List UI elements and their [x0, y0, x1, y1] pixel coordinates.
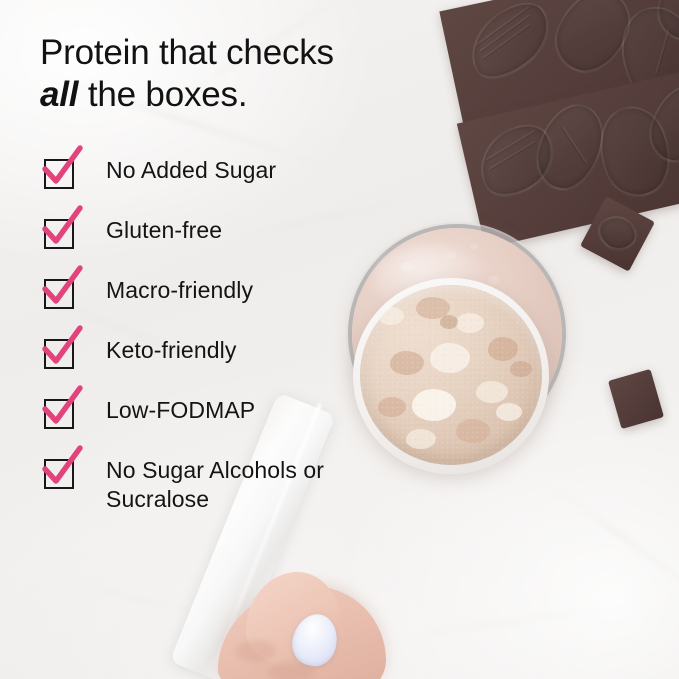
checkbox-macro-friendly[interactable]: [42, 271, 80, 309]
shake-froth: [470, 244, 478, 250]
checkmark-icon: [38, 385, 84, 431]
list-item-label: Keto-friendly: [106, 330, 236, 365]
chocolate-square-emboss: [592, 207, 643, 258]
powder-crumb: [456, 313, 484, 333]
headline-line-2-rest: the boxes.: [78, 75, 247, 114]
list-item: No Added Sugar: [42, 150, 372, 189]
checkmark-icon: [38, 145, 84, 191]
cacao-pod-emboss: [456, 0, 563, 90]
powder-crumb: [406, 429, 436, 449]
shake-froth: [400, 262, 414, 271]
powder-crumb: [510, 361, 532, 377]
checkmark-icon: [38, 265, 84, 311]
powder-crumb: [456, 419, 490, 443]
powder-crumb: [476, 381, 508, 403]
checkbox-keto-friendly[interactable]: [42, 331, 80, 369]
powder-crumb: [378, 307, 404, 325]
list-item: Keto-friendly: [42, 330, 372, 369]
shake-froth: [446, 252, 456, 259]
knuckle-shading: [236, 640, 276, 662]
list-item: Gluten-free: [42, 210, 372, 249]
checkbox-gluten-free[interactable]: [42, 211, 80, 249]
checkbox-low-fodmap[interactable]: [42, 391, 80, 429]
list-item-label: Gluten-free: [106, 210, 222, 245]
list-item-label: No Added Sugar: [106, 150, 276, 185]
checkbox-no-sugar-alcohols[interactable]: [42, 451, 80, 489]
checkmark-icon: [38, 205, 84, 251]
powder-crumb: [488, 337, 518, 361]
powder-crumb: [390, 351, 424, 375]
list-item: Low-FODMAP: [42, 390, 372, 429]
powder-crumb: [412, 389, 456, 421]
powder-crumb: [378, 397, 406, 417]
powder-crumb: [496, 403, 522, 421]
cacao-leaf-emboss: [530, 97, 610, 197]
list-item-label: No Sugar Alcohols or Sucralose: [106, 450, 372, 514]
powder-crumb: [440, 315, 458, 329]
list-item: No Sugar Alcohols or Sucralose: [42, 450, 372, 514]
powder-crumb: [430, 343, 470, 373]
checkmark-icon: [38, 325, 84, 371]
list-item: Macro-friendly: [42, 270, 372, 309]
checkbox-no-added-sugar[interactable]: [42, 151, 80, 189]
page-title: Protein that checks all the boxes.: [40, 32, 440, 116]
marketing-graphic: Protein that checks all the boxes. No Ad…: [0, 0, 679, 679]
protein-powder: [360, 285, 542, 465]
list-item-label: Macro-friendly: [106, 270, 253, 305]
shake-froth: [488, 276, 500, 284]
checkmark-icon: [38, 445, 84, 491]
list-item-label: Low-FODMAP: [106, 390, 255, 425]
headline-accent-word: all: [40, 75, 78, 114]
headline-line-1: Protein that checks: [40, 33, 334, 72]
benefits-checklist: No Added Sugar Gluten-free Macro-friendl…: [42, 150, 372, 514]
